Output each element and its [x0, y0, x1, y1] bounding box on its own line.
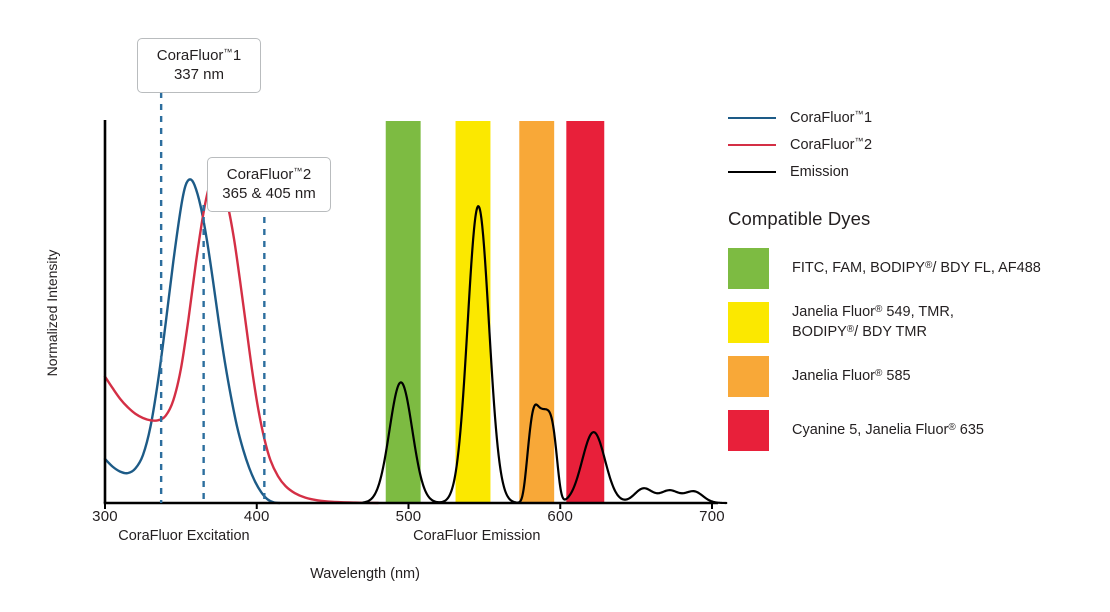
- marker-callout: CoraFluor™1337 nm: [137, 38, 261, 93]
- legend-item: CoraFluor™1: [728, 104, 1110, 131]
- dye-label: Cyanine 5, Janelia Fluor® 635: [792, 420, 984, 440]
- dye-label: Janelia Fluor® 585: [792, 366, 911, 386]
- compatible-dyes-heading: Compatible Dyes: [728, 208, 1110, 230]
- x-axis-title: Wavelength (nm): [0, 566, 730, 582]
- legend-panel: CoraFluor™1 CoraFluor™2 Emission Compati…: [728, 104, 1110, 460]
- legend-line-swatch: [728, 171, 776, 173]
- registered-symbol: ®: [847, 324, 854, 335]
- dye-label: FITC, FAM, BODIPY®/ BDY FL, AF488: [792, 258, 1041, 278]
- region-label: CoraFluor Excitation: [64, 528, 304, 544]
- x-tick-label: 300: [75, 508, 135, 525]
- x-tick-label: 600: [530, 508, 590, 525]
- trademark-symbol: ™: [854, 109, 864, 119]
- legend-item: Emission: [728, 158, 1110, 185]
- trademark-symbol: ™: [293, 166, 303, 176]
- x-tick-label: 700: [682, 508, 742, 525]
- orange-band: [519, 121, 554, 503]
- spectra-chart: 300400500600700 CoraFluor ExcitationCora…: [0, 0, 730, 612]
- registered-symbol: ®: [925, 260, 932, 271]
- dye-color-swatch: [728, 410, 769, 451]
- dye-label: Janelia Fluor® 549, TMR,BODIPY®/ BDY TMR: [792, 302, 954, 342]
- marker-callout: CoraFluor™2365 & 405 nm: [207, 157, 331, 212]
- dye-row: Janelia Fluor® 549, TMR,BODIPY®/ BDY TMR: [728, 298, 1110, 346]
- dye-row: FITC, FAM, BODIPY®/ BDY FL, AF488: [728, 244, 1110, 292]
- y-axis-title: Normalized Intensity: [44, 223, 60, 403]
- trademark-symbol: ™: [854, 136, 864, 146]
- yellow-band: [456, 121, 491, 503]
- dye-row: Janelia Fluor® 585: [728, 352, 1110, 400]
- legend-item-label: CoraFluor™2: [790, 136, 872, 153]
- series-legend: CoraFluor™1 CoraFluor™2 Emission: [728, 104, 1110, 185]
- marker-callout-value: 337 nm: [150, 65, 248, 84]
- x-tick-label: 400: [227, 508, 287, 525]
- legend-item: CoraFluor™2: [728, 131, 1110, 158]
- registered-symbol: ®: [875, 368, 882, 379]
- legend-line-swatch: [728, 144, 776, 146]
- legend-item-label: CoraFluor™1: [790, 109, 872, 126]
- excitation-curve: [105, 179, 280, 503]
- dye-row: Cyanine 5, Janelia Fluor® 635: [728, 406, 1110, 454]
- legend-line-swatch: [728, 117, 776, 119]
- dye-color-swatch: [728, 248, 769, 289]
- excitation-curve: [105, 178, 378, 503]
- marker-callout-title: CoraFluor™2: [220, 165, 318, 184]
- registered-symbol: ®: [948, 422, 955, 433]
- trademark-symbol: ™: [223, 47, 233, 57]
- dye-color-swatch: [728, 356, 769, 397]
- x-tick-label: 500: [379, 508, 439, 525]
- dye-color-swatch: [728, 302, 769, 343]
- registered-symbol: ®: [875, 304, 882, 315]
- region-label: CoraFluor Emission: [357, 528, 597, 544]
- compatible-dyes-list: FITC, FAM, BODIPY®/ BDY FL, AF488Janelia…: [728, 244, 1110, 454]
- legend-item-label: Emission: [790, 164, 849, 180]
- marker-callout-value: 365 & 405 nm: [220, 184, 318, 203]
- marker-callout-title: CoraFluor™1: [150, 46, 248, 65]
